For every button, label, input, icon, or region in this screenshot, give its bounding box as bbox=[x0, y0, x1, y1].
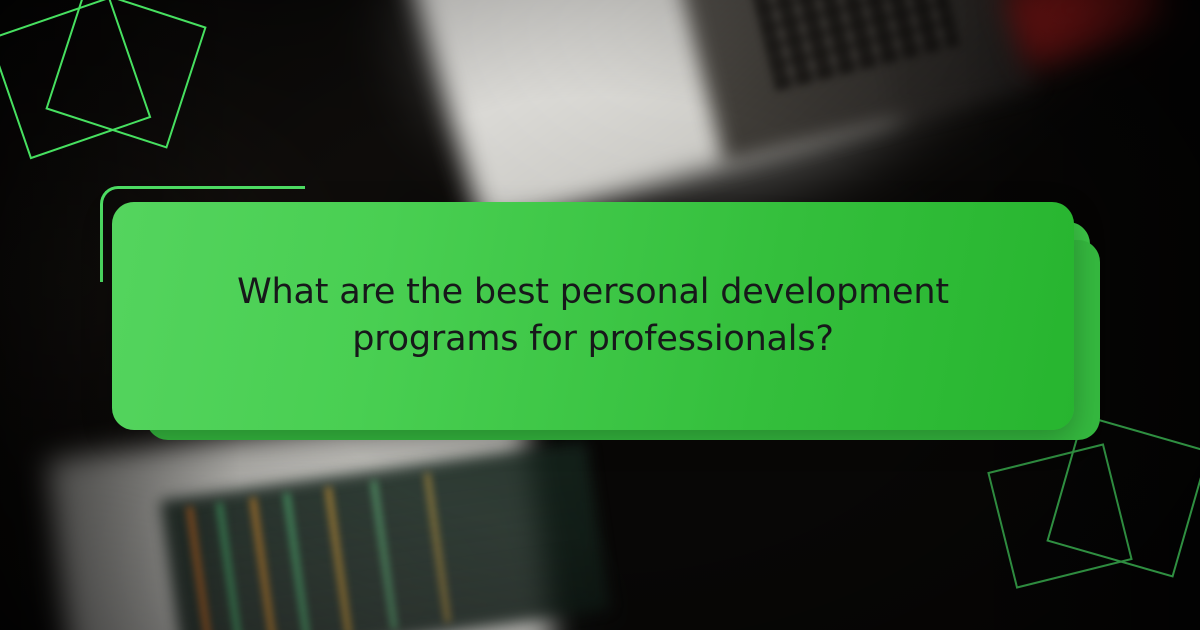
social-card-canvas: What are the best personal development p… bbox=[0, 0, 1200, 630]
question-title: What are the best personal development p… bbox=[141, 269, 1045, 362]
question-card: What are the best personal development p… bbox=[112, 202, 1074, 430]
